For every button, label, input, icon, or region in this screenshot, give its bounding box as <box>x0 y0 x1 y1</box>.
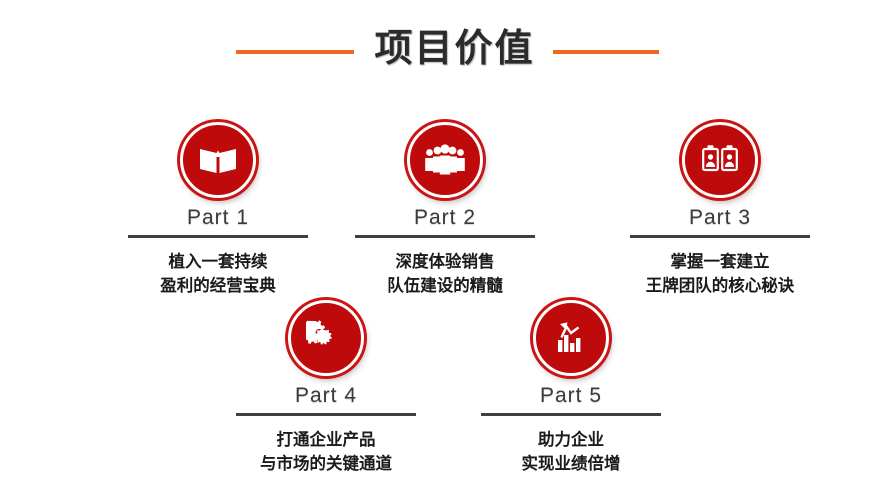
value-item-part-1[interactable]: Part 1 植入一套持续 盈利的经营宝典 <box>98 122 338 299</box>
caption-part-3: 掌握一套建立 王牌团队的核心秘诀 <box>646 251 795 299</box>
caption-line-2: 与市场的关键通道 <box>260 453 392 477</box>
value-item-part-4[interactable]: Part 4 打通企业产品 与市场的关键通道 <box>206 300 446 477</box>
part-label: Part 4 <box>295 385 357 406</box>
caption-line-1: 植入一套持续 <box>169 253 268 271</box>
title-rule-right-icon <box>553 50 659 54</box>
caption-line-1: 打通企业产品 <box>277 431 376 449</box>
caption-part-5: 助力企业 实现业绩倍增 <box>522 429 621 477</box>
caption-part-1: 植入一套持续 盈利的经营宝典 <box>160 251 276 299</box>
caption-part-4: 打通企业产品 与市场的关键通道 <box>260 429 392 477</box>
caption-line-1: 掌握一套建立 <box>671 253 770 271</box>
part-divider <box>355 235 535 238</box>
group-of-people-icon <box>424 144 466 176</box>
slide-title-bar: 项目价值 <box>0 18 895 80</box>
value-item-part-5[interactable]: Part 5 助力企业 实现业绩倍增 <box>451 300 691 477</box>
badge-part-2 <box>407 122 483 198</box>
badge-part-4 <box>288 300 364 376</box>
caption-part-2: 深度体验销售 队伍建设的精髓 <box>387 251 503 299</box>
page-title: 项目价值 <box>374 30 534 68</box>
value-item-part-3[interactable]: Part 3 掌握一套建立 王牌团队的核心秘诀 <box>600 122 840 299</box>
value-item-part-2[interactable]: Part 2 深度体验销售 队伍建设的精髓 <box>325 122 565 299</box>
badge-part-1 <box>180 122 256 198</box>
badge-part-3 <box>682 122 758 198</box>
open-book-icon <box>198 143 238 177</box>
part-label: Part 3 <box>689 207 751 228</box>
badge-part-5 <box>533 300 609 376</box>
part-label: Part 2 <box>414 207 476 228</box>
part-label: Part 1 <box>187 207 249 228</box>
caption-line-2: 队伍建设的精髓 <box>387 275 503 299</box>
growth-chart-icon <box>552 320 590 356</box>
caption-line-2: 盈利的经营宝典 <box>160 275 276 299</box>
id-badge-pair-icon <box>700 143 740 177</box>
caption-line-1: 助力企业 <box>538 431 604 449</box>
part-divider <box>481 413 661 416</box>
part-label: Part 5 <box>540 385 602 406</box>
part-divider <box>236 413 416 416</box>
part-divider <box>128 235 308 238</box>
gears-icon <box>306 320 346 356</box>
caption-line-2: 王牌团队的核心秘诀 <box>646 275 795 299</box>
caption-line-2: 实现业绩倍增 <box>522 453 621 477</box>
part-divider <box>630 235 810 238</box>
caption-line-1: 深度体验销售 <box>396 253 495 271</box>
title-rule-left-icon <box>236 50 354 54</box>
